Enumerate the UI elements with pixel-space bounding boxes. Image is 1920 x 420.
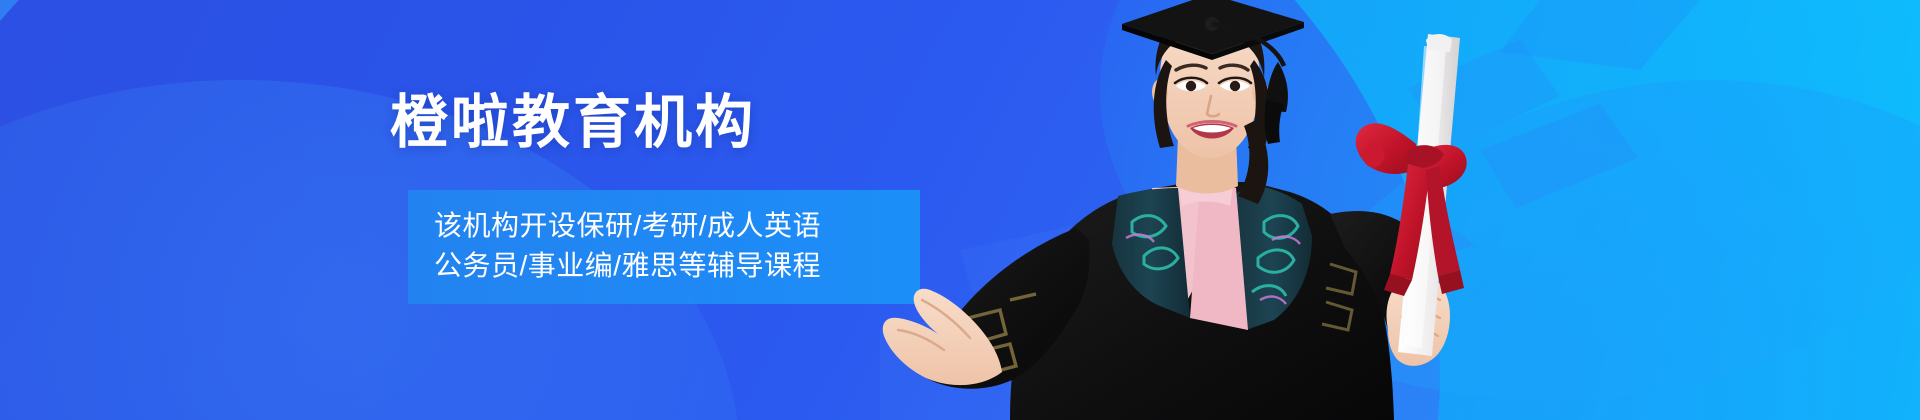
- subtitle-line-2: 公务员/事业编/雅思等辅导课程: [434, 246, 898, 286]
- page-title: 橙啦教育机构: [390, 94, 930, 152]
- banner-text-block: 橙啦教育机构 该机构开设保研/考研/成人英语 公务员/事业编/雅思等辅导课程: [390, 94, 930, 304]
- graduate-figure: [860, 0, 1620, 420]
- subtitle-panel: 该机构开设保研/考研/成人英语 公务员/事业编/雅思等辅导课程: [408, 190, 920, 304]
- subtitle-line-1: 该机构开设保研/考研/成人英语: [434, 206, 898, 246]
- education-hero-banner: 橙啦教育机构 该机构开设保研/考研/成人英语 公务员/事业编/雅思等辅导课程: [0, 0, 1920, 420]
- graduate-illustration: [860, 0, 1620, 420]
